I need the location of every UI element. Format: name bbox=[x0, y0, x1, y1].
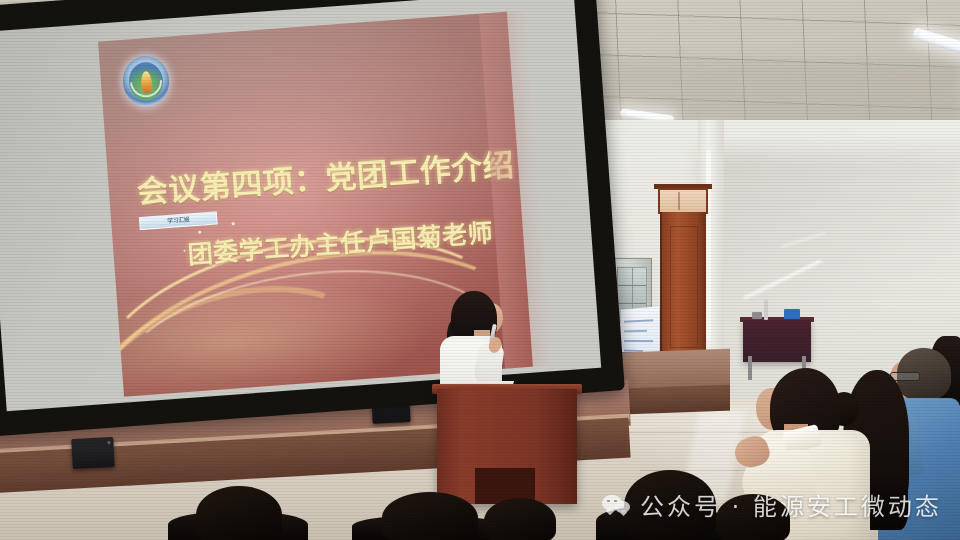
wall-shadow bbox=[700, 150, 960, 360]
cabinet-shelf-2 bbox=[618, 303, 646, 304]
cabinet-shelf-1 bbox=[618, 285, 646, 286]
console-object-small bbox=[752, 312, 762, 319]
screen-surface: 会议第四项：党团工作介绍 学习汇报 团委学工办主任卢国菊老师 bbox=[0, 0, 601, 411]
watermark: 公众号 · 能源安工微动态 bbox=[602, 487, 942, 522]
audience-foreground-2 bbox=[382, 492, 478, 540]
wechat-dot-1 bbox=[607, 500, 610, 503]
wechat-bubble-small bbox=[615, 501, 630, 513]
poster-line-2 bbox=[624, 330, 647, 332]
wooden-door[interactable] bbox=[660, 212, 706, 364]
pillar-highlight bbox=[706, 150, 711, 340]
door-panel bbox=[670, 226, 698, 348]
stage-monitor-left bbox=[71, 437, 115, 469]
console-object-box bbox=[784, 309, 800, 319]
door-transom-window bbox=[658, 188, 708, 214]
presentation-photo: 会议第四项：党团工作介绍 学习汇报 团委学工办主任卢国菊老师 bbox=[0, 0, 960, 540]
wechat-dot-2 bbox=[614, 500, 617, 503]
poster-line-1 bbox=[624, 319, 653, 322]
console-leg-left bbox=[748, 356, 752, 380]
wechat-icon bbox=[602, 493, 630, 517]
slide-sparkle-3 bbox=[232, 222, 235, 225]
console-table bbox=[743, 320, 811, 362]
slide-sparkle-4 bbox=[183, 250, 185, 252]
audience-foreground-1 bbox=[196, 486, 282, 540]
poster-line-3 bbox=[624, 340, 653, 342]
audience-foreground-3 bbox=[484, 498, 556, 540]
institutional-emblem-icon bbox=[121, 55, 171, 108]
watermark-text: 公众号 · 能源安工微动态 bbox=[640, 487, 942, 522]
console-object-bottle bbox=[764, 300, 768, 320]
projection-screen: 会议第四项：党团工作介绍 学习汇报 团委学工办主任卢国菊老师 bbox=[0, 0, 625, 437]
